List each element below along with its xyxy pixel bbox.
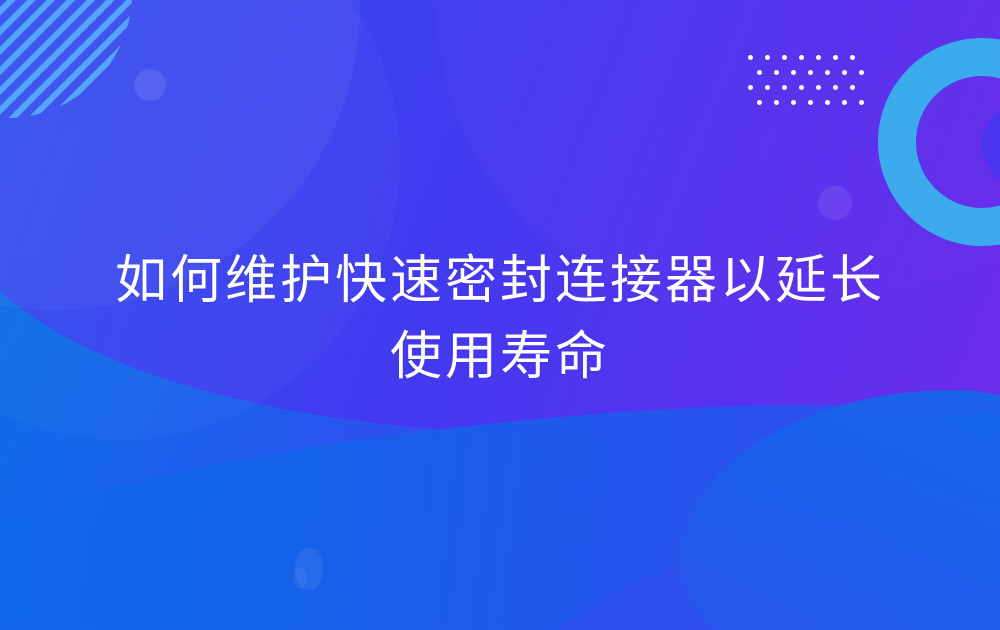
dot xyxy=(825,100,830,105)
soft-circle-icon-2 xyxy=(818,186,852,220)
dot xyxy=(765,55,770,60)
dot xyxy=(782,55,787,60)
dot xyxy=(748,85,753,90)
dot xyxy=(799,55,804,60)
dot xyxy=(859,100,864,105)
dot xyxy=(791,100,796,105)
dot-matrix-row xyxy=(757,62,876,67)
dot xyxy=(757,70,762,75)
dot xyxy=(748,55,753,60)
dot xyxy=(808,100,813,105)
dot xyxy=(799,85,804,90)
dot xyxy=(850,85,855,90)
dot xyxy=(765,85,770,90)
dot xyxy=(808,70,813,75)
article-cover-banner: 如何维护快速密封连接器以延长 使用寿命 xyxy=(0,0,1000,630)
dot xyxy=(842,70,847,75)
dot xyxy=(791,70,796,75)
soft-circle-icon-1 xyxy=(134,69,166,101)
dot xyxy=(859,70,864,75)
dot xyxy=(782,85,787,90)
dot-matrix-row xyxy=(757,92,876,97)
soft-circle-icon-4 xyxy=(293,567,307,589)
dot xyxy=(825,70,830,75)
dot-matrix-icon xyxy=(748,47,878,109)
dot xyxy=(833,85,838,90)
dot xyxy=(850,55,855,60)
dot xyxy=(816,55,821,60)
dot-matrix-row xyxy=(748,77,867,82)
dot xyxy=(842,100,847,105)
dot-matrix-row xyxy=(748,47,867,52)
dot xyxy=(774,70,779,75)
dot xyxy=(757,100,762,105)
dot xyxy=(833,55,838,60)
dot xyxy=(774,100,779,105)
page-title: 如何维护快速密封连接器以延长 使用寿命 xyxy=(0,243,1000,395)
dot xyxy=(816,85,821,90)
